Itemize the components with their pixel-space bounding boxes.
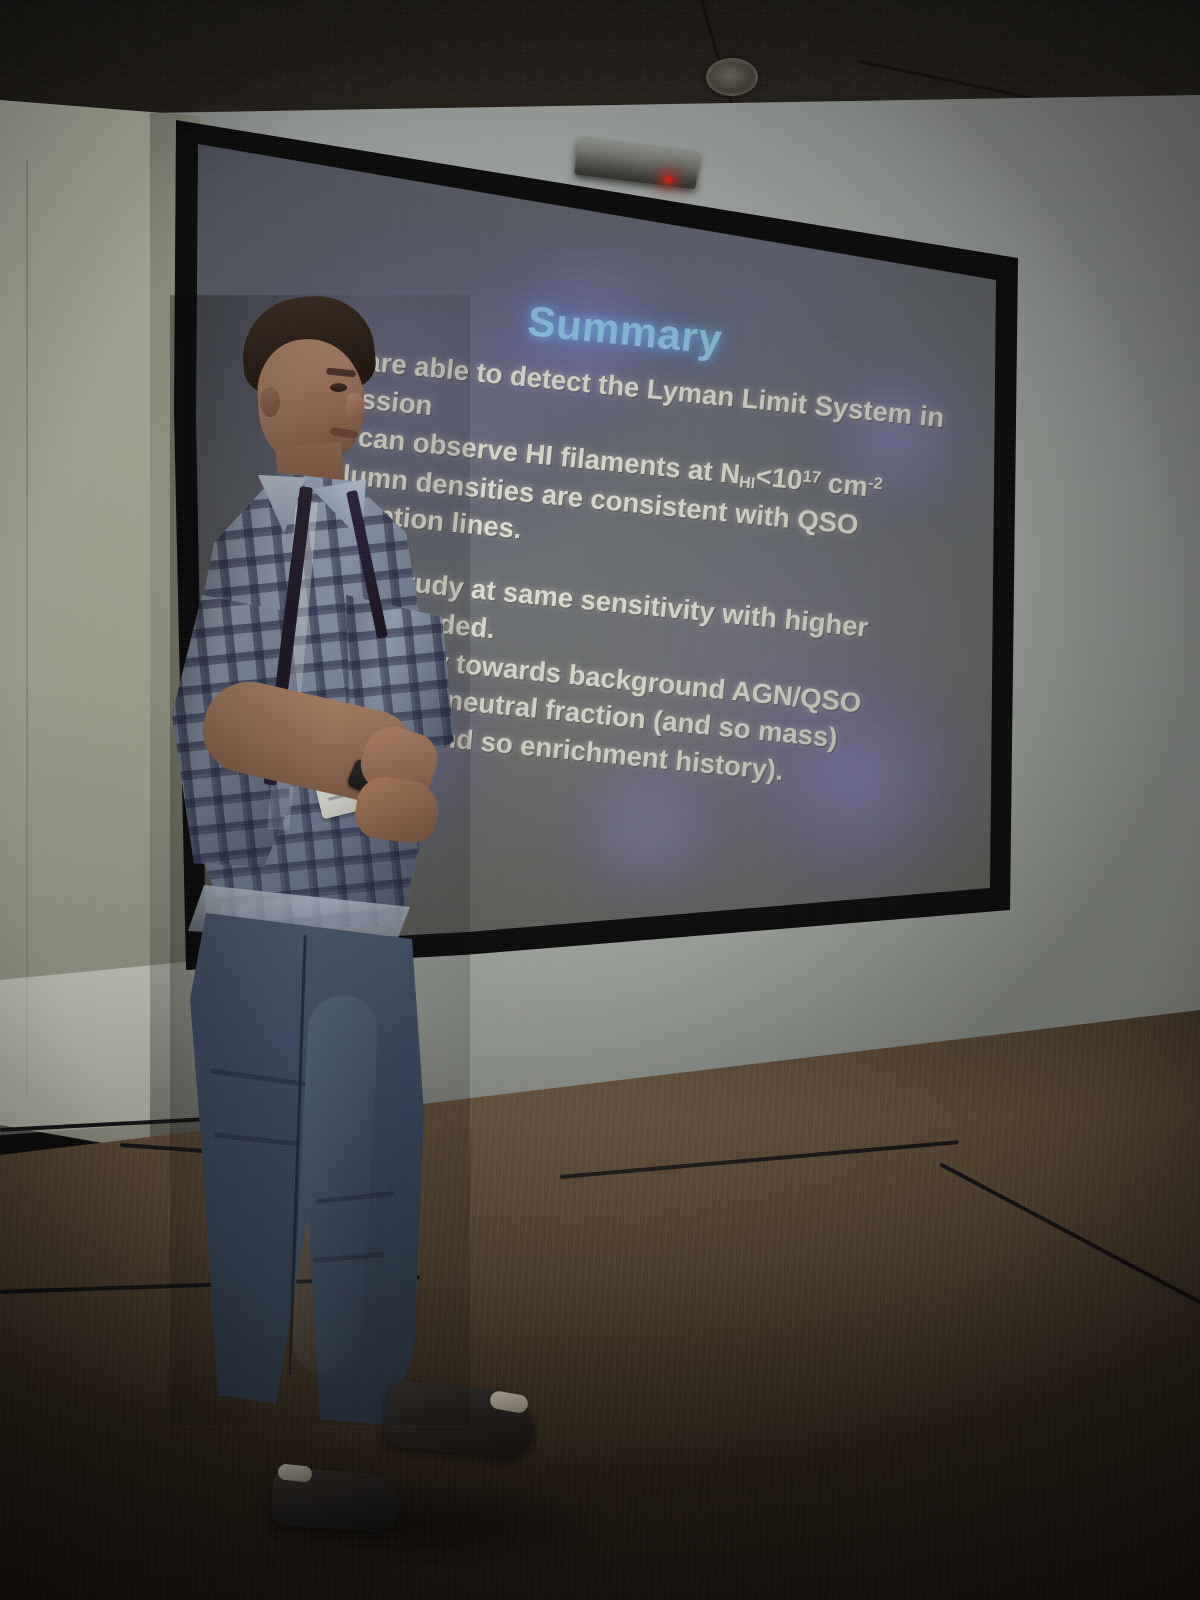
presenter — [150, 295, 570, 1425]
slide-nebula-wisp — [732, 670, 992, 900]
wall-panel-seam — [26, 160, 28, 1100]
presenter-ear — [260, 387, 280, 417]
recessed-ceiling-downlight-icon — [706, 58, 758, 96]
lecture-room-photo: Summary We are able to detect the Lyman … — [0, 0, 1200, 1600]
slide-nebula-wisp — [552, 750, 742, 910]
slide-nebula-wisp — [812, 340, 982, 530]
presenter-eye — [330, 383, 347, 392]
